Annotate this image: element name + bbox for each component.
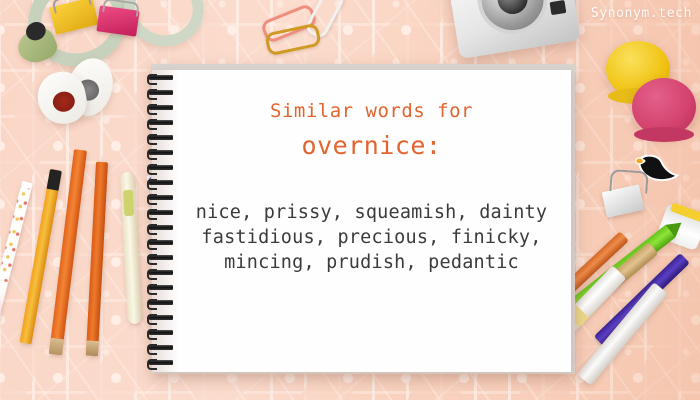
page-title-prefix: Similar words for — [182, 98, 561, 124]
spiral-ring-hook — [147, 119, 157, 130]
spiral-ring-hook — [147, 89, 157, 100]
spiral-ring-hook — [147, 359, 157, 370]
spiral-ring — [147, 239, 177, 246]
synonym-line: nice, prissy, squeamish, dainty — [182, 200, 561, 225]
synonym-line: mincing, prudish, pedantic — [182, 250, 561, 275]
spiral-ring — [147, 299, 177, 306]
notebook-spiral-binding — [147, 74, 179, 370]
spiral-ring — [147, 329, 177, 336]
page-title-headword: overnice: — [182, 128, 561, 164]
page-content: Similar words for overnice: nice, prissy… — [182, 98, 561, 275]
spiral-ring — [147, 254, 177, 261]
screenshot-scene: Similar words for overnice: nice, prissy… — [0, 0, 700, 400]
spiral-ring-hook — [147, 254, 157, 265]
spiral-ring-hook — [147, 134, 157, 145]
spiral-ring-hook — [147, 209, 157, 220]
camera-lens-icon — [472, 0, 552, 39]
spiral-ring-hook — [147, 224, 157, 235]
spiral-ring-hook — [147, 299, 157, 310]
spiral-ring-hook — [147, 104, 157, 115]
synonym-line: fastidious, precious, finicky, — [182, 225, 561, 250]
spiral-ring-hook — [147, 344, 157, 355]
spiral-ring — [147, 134, 177, 141]
spiral-ring — [147, 164, 177, 171]
synonym-list: nice, prissy, squeamish, dainty fastidio… — [182, 200, 561, 275]
spiral-ring-hook — [147, 179, 157, 190]
spiral-ring-hook — [147, 269, 157, 280]
camera-flash-icon — [549, 0, 566, 15]
spiral-ring — [147, 224, 177, 231]
spiral-ring-hook — [147, 314, 157, 325]
spiral-ring — [147, 209, 177, 216]
spiral-ring — [147, 104, 177, 111]
spiral-ring — [147, 194, 177, 201]
macaron-pink-icon — [632, 78, 696, 136]
spiral-ring — [147, 359, 177, 366]
spiral-ring-hook — [147, 74, 157, 85]
spiral-ring-hook — [147, 194, 157, 205]
spiral-ring — [147, 284, 177, 291]
spiral-ring-hook — [147, 284, 157, 295]
spiral-ring — [147, 89, 177, 96]
spiral-ring — [147, 344, 177, 351]
spiral-ring — [147, 119, 177, 126]
watermark: Synonym.tech — [591, 6, 692, 21]
spiral-ring — [147, 269, 177, 276]
notebook-page: Similar words for overnice: nice, prissy… — [152, 70, 571, 372]
spiral-ring — [147, 314, 177, 321]
spiral-ring-hook — [147, 164, 157, 175]
spiral-ring — [147, 74, 177, 81]
spiral-ring-hook — [147, 329, 157, 340]
spiral-ring — [147, 179, 177, 186]
spiral-ring-hook — [147, 149, 157, 160]
binder-clip-pink-icon — [96, 5, 139, 36]
spiral-ring-hook — [147, 239, 157, 250]
spiral-ring — [147, 149, 177, 156]
camera-lens-inner-icon — [495, 0, 529, 16]
